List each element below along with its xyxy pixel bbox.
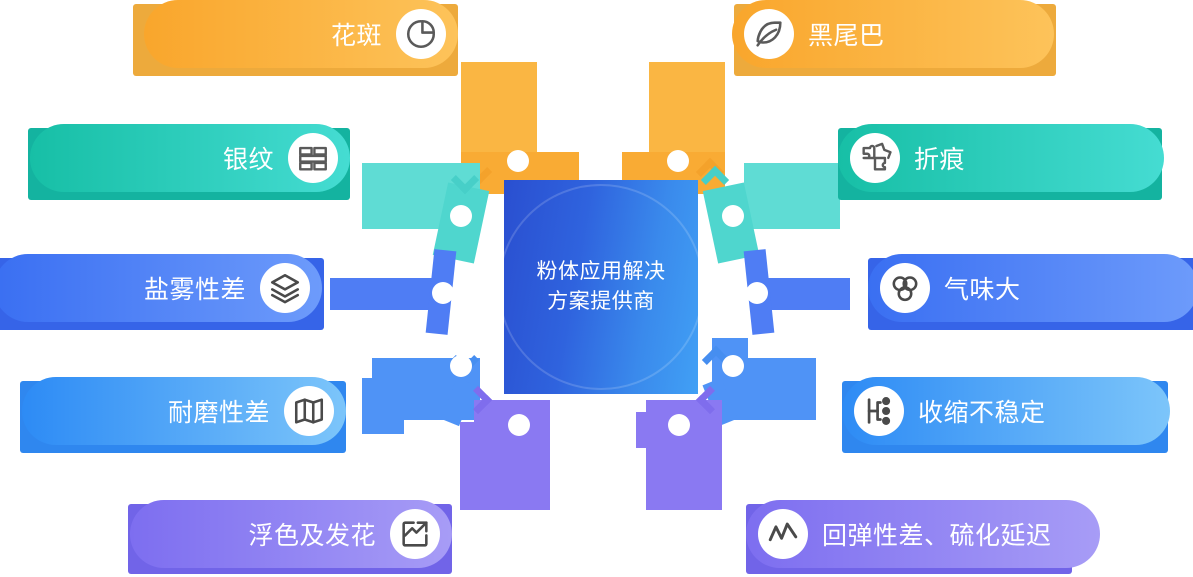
item-qiwei-label: 气味大 [944,270,1021,306]
item-shousuo-label: 收缩不稳定 [918,393,1046,429]
center-node: 粉体应用解决 方案提供商 [504,180,698,394]
layers-icon [260,263,310,313]
map-icon [284,386,334,436]
pie-chart-icon [396,9,446,59]
recycle-icon [880,263,930,313]
item-huitan[interactable]: 回弹性差、硫化延迟 [746,500,1100,568]
item-naimo[interactable]: 耐磨性差 [22,377,346,445]
item-fuse[interactable]: 浮色及发花 [130,500,452,568]
sitemap-icon [854,386,904,436]
puzzle-icon [850,133,900,183]
item-yinwen-label: 银纹 [223,140,274,176]
center-label: 粉体应用解决 方案提供商 [504,257,698,317]
item-yanwu[interactable]: 盐雾性差 [0,254,322,322]
brick-wall-icon [288,133,338,183]
item-shousuo[interactable]: 收缩不稳定 [842,377,1170,445]
item-zhehen-label: 折痕 [914,140,965,176]
item-zhehen[interactable]: 折痕 [838,124,1164,192]
activity-icon [758,509,808,559]
item-huaban[interactable]: 花斑 [144,0,458,68]
infographic-canvas: 粉体应用解决 方案提供商 花斑 银纹 盐雾性差 [0,0,1193,577]
trend-up-icon [390,509,440,559]
item-heiweiba-label: 黑尾巴 [808,16,885,52]
item-qiwei[interactable]: 气味大 [868,254,1193,322]
item-huaban-label: 花斑 [331,16,382,52]
item-naimo-label: 耐磨性差 [168,393,270,429]
item-heiweiba[interactable]: 黑尾巴 [732,0,1054,68]
item-huitan-label: 回弹性差、硫化延迟 [822,516,1052,552]
item-fuse-label: 浮色及发花 [248,516,376,552]
leaf-icon [744,9,794,59]
item-yinwen[interactable]: 银纹 [30,124,350,192]
item-yanwu-label: 盐雾性差 [144,270,246,306]
